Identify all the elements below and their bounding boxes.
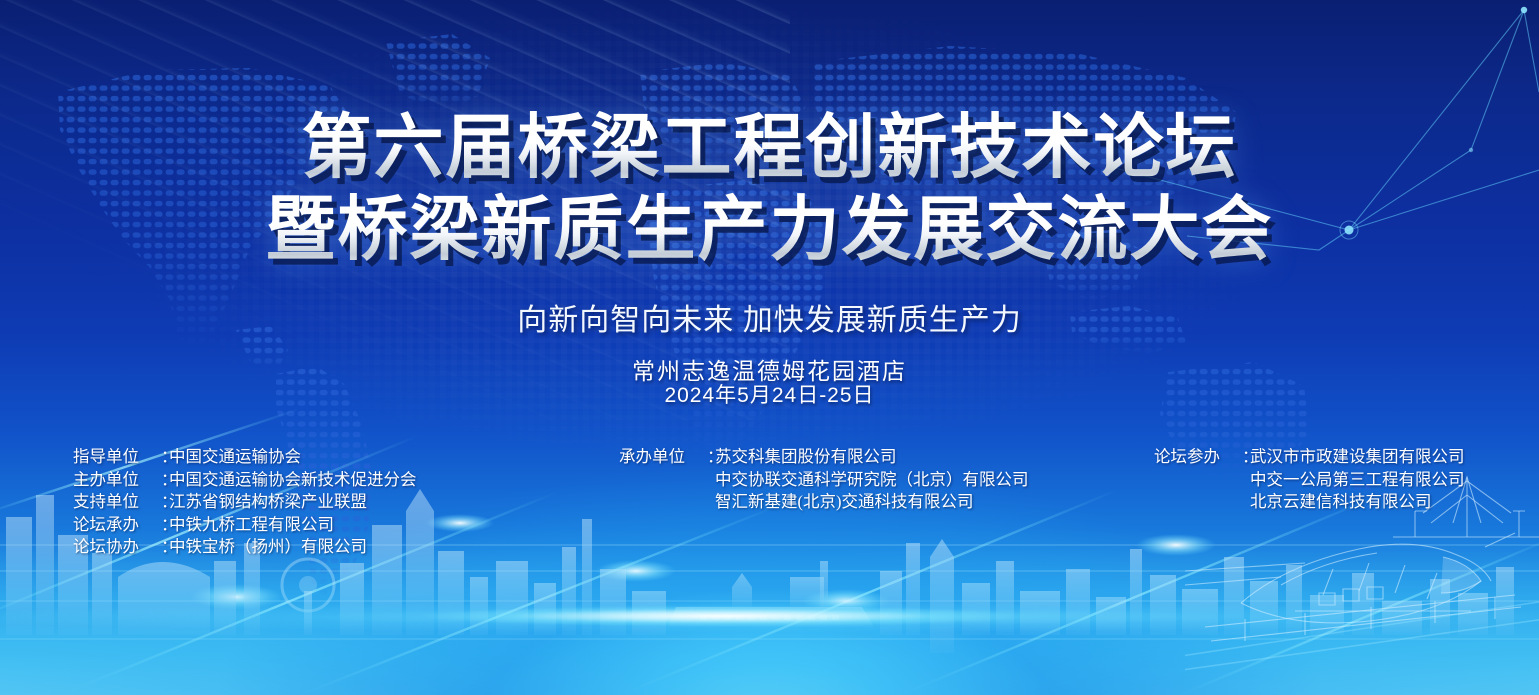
organization-row: 论坛参办 ： 武汉市市政建设集团有限公司 [1154, 446, 1465, 469]
organization-row: 指导单位 ： 中国交通运输协会 [73, 446, 417, 469]
organization-value: 中交一公局第三工程有限公司 [1250, 469, 1465, 492]
organization-value: 中国交通运输协会 [169, 446, 301, 469]
organization-row: 主办单位 ： 中国交通运输协会新技术促进分会 [73, 469, 417, 492]
organization-label: 承办单位 [619, 446, 707, 469]
organization-separator [707, 491, 715, 514]
organization-row: 承办单位 ： 苏交科集团股份有限公司 [619, 446, 1029, 469]
organization-separator: ： [161, 469, 169, 492]
organization-row: 论坛协办 ： 中铁宝桥（扬州）有限公司 [73, 536, 417, 559]
organization-row: 承办单位 智汇新基建(北京)交通科技有限公司 [619, 491, 1029, 514]
title-line-1: 第六届桥梁工程创新技术论坛 [0, 108, 1539, 190]
organization-label: 论坛承办 [73, 514, 161, 537]
organization-value: 江苏省钢结构桥梁产业联盟 [169, 491, 367, 514]
organization-separator: ： [161, 536, 169, 559]
organizations-column-right: 论坛参办 ： 武汉市市政建设集团有限公司 论坛参办 中交一公局第三工程有限公司 … [1154, 446, 1465, 514]
organization-label: 主办单位 [73, 469, 161, 492]
dates-text: 2024年5月24日-25日 [0, 379, 1539, 409]
organization-row: 论坛参办 中交一公局第三工程有限公司 [1154, 469, 1465, 492]
organization-separator [1242, 469, 1250, 492]
organization-label: 论坛参办 [1154, 446, 1242, 469]
organization-separator [1242, 491, 1250, 514]
organization-label: 支持单位 [73, 491, 161, 514]
organization-row: 承办单位 中交协联交通科学研究院（北京）有限公司 [619, 469, 1029, 492]
organization-separator: ： [161, 446, 169, 469]
slogan-text: 向新向智向未来 加快发展新质生产力 [0, 295, 1539, 339]
conference-banner: 第六届桥梁工程创新技术论坛 暨桥梁新质生产力发展交流大会 向新向智向未来 加快发… [0, 0, 1539, 695]
organization-separator: ： [161, 491, 169, 514]
organization-value: 苏交科集团股份有限公司 [715, 446, 897, 469]
banner-content: 第六届桥梁工程创新技术论坛 暨桥梁新质生产力发展交流大会 向新向智向未来 加快发… [0, 0, 1539, 695]
organization-separator: ： [1242, 446, 1250, 469]
organization-value: 中铁宝桥（扬州）有限公司 [169, 536, 367, 559]
organization-value: 武汉市市政建设集团有限公司 [1250, 446, 1465, 469]
organization-value: 中铁九桥工程有限公司 [169, 514, 334, 537]
organization-value: 中国交通运输协会新技术促进分会 [169, 469, 417, 492]
organizations-column-left: 指导单位 ： 中国交通运输协会 主办单位 ： 中国交通运输协会新技术促进分会 支… [73, 446, 417, 559]
organization-value: 智汇新基建(北京)交通科技有限公司 [715, 491, 974, 514]
organization-value: 北京云建信科技有限公司 [1250, 491, 1432, 514]
organization-row: 论坛承办 ： 中铁九桥工程有限公司 [73, 514, 417, 537]
organization-label: 指导单位 [73, 446, 161, 469]
organization-separator: ： [707, 446, 715, 469]
organization-value: 中交协联交通科学研究院（北京）有限公司 [715, 469, 1029, 492]
organization-row: 论坛参办 北京云建信科技有限公司 [1154, 491, 1465, 514]
organizations-column-middle: 承办单位 ： 苏交科集团股份有限公司 承办单位 中交协联交通科学研究院（北京）有… [619, 446, 1029, 514]
title-block: 第六届桥梁工程创新技术论坛 暨桥梁新质生产力发展交流大会 [0, 108, 1539, 272]
organization-label: 论坛协办 [73, 536, 161, 559]
title-line-2: 暨桥梁新质生产力发展交流大会 [0, 190, 1539, 272]
organization-separator [707, 469, 715, 492]
organization-row: 支持单位 ： 江苏省钢结构桥梁产业联盟 [73, 491, 417, 514]
organization-separator: ： [161, 514, 169, 537]
organizations-block: 指导单位 ： 中国交通运输协会 主办单位 ： 中国交通运输协会新技术促进分会 支… [0, 440, 1539, 580]
